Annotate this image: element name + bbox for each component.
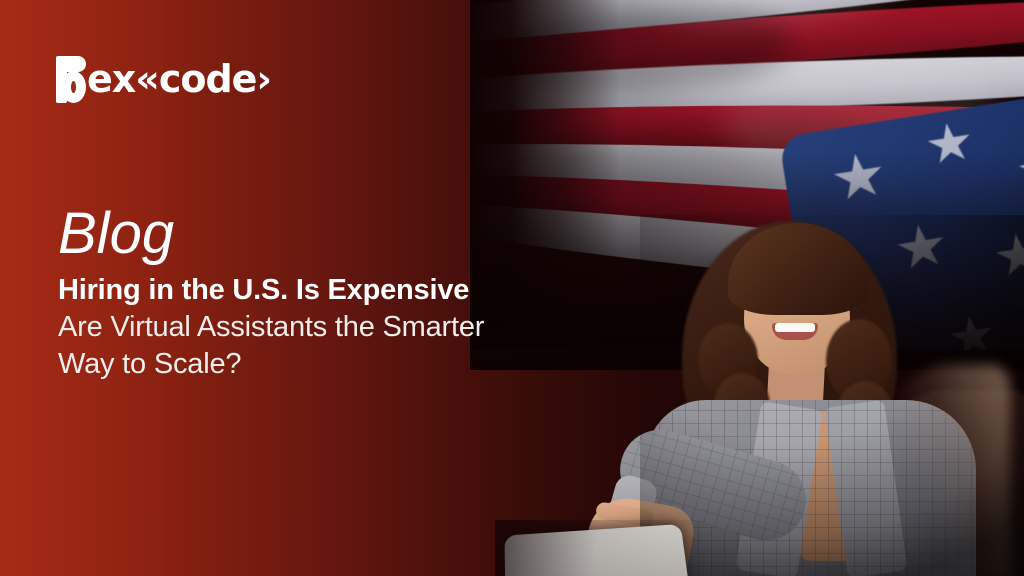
logo-wordmark: ex«code› (87, 60, 271, 98)
blog-banner: ex«code› Blog Hiring in the U.S. Is Expe… (0, 0, 1024, 576)
subheadline-line-1: Are Virtual Assistants the Smarter (58, 309, 618, 346)
banner-copy: Blog Hiring in the U.S. Is Expensive Are… (58, 205, 618, 383)
headline: Hiring in the U.S. Is Expensive (58, 273, 618, 307)
kicker-blog: Blog (58, 205, 618, 263)
subheadline-line-2: Way to Scale? (58, 346, 618, 383)
person-vignette (640, 215, 1024, 576)
laptop-image (505, 524, 689, 576)
businesswoman-image (640, 215, 1024, 576)
subheadline: Are Virtual Assistants the Smarter Way t… (58, 309, 618, 383)
logo-b-mark (56, 56, 86, 103)
bexcode-logo[interactable]: ex«code› (56, 55, 271, 103)
